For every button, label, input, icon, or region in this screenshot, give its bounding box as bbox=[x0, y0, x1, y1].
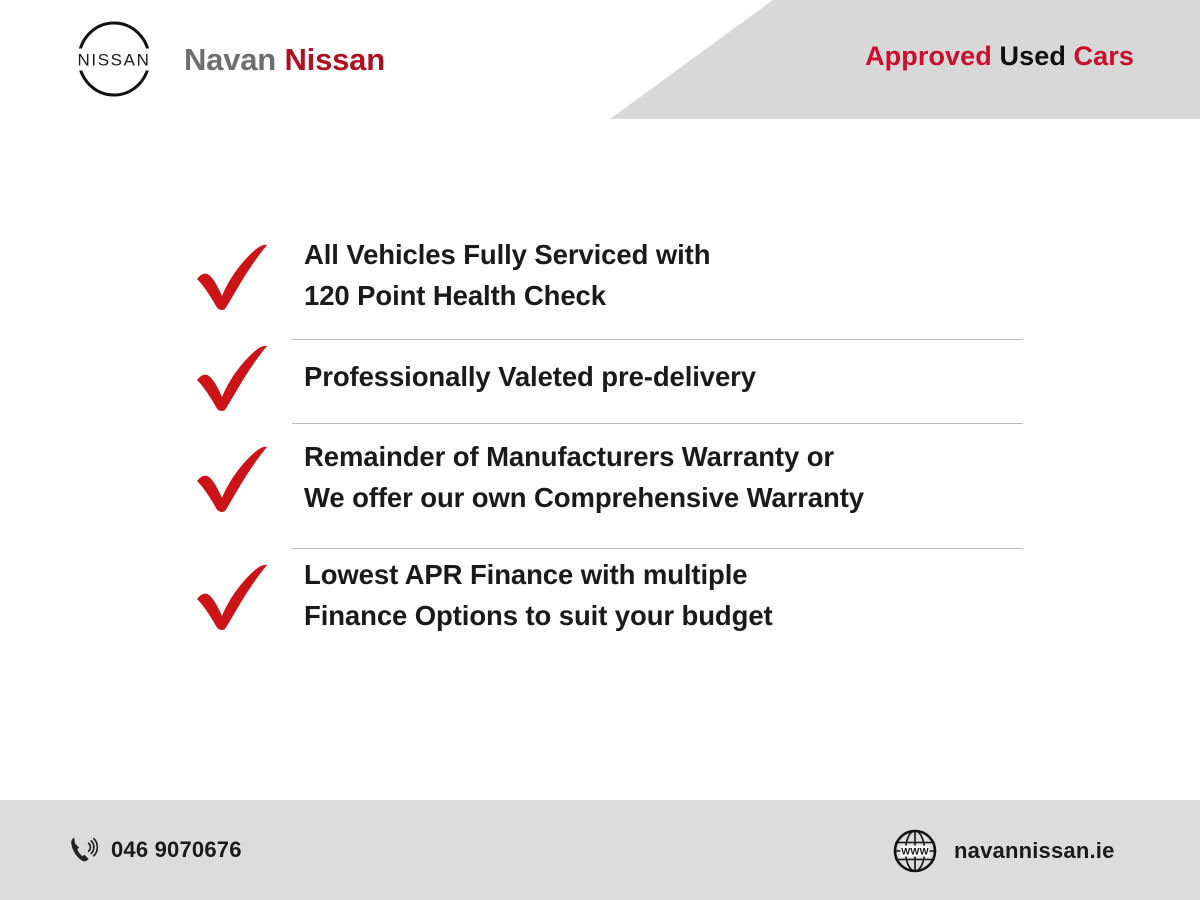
title-word-approved: Approved bbox=[865, 41, 992, 71]
feature-item: All Vehicles Fully Serviced with 120 Poi… bbox=[0, 216, 1200, 334]
approved-used-cars-title: Approved Used Cars bbox=[865, 43, 1134, 70]
globe-www-icon: WWW bbox=[892, 828, 938, 874]
feature-item: Professionally Valeted pre-delivery bbox=[0, 334, 1200, 418]
svg-text:WWW: WWW bbox=[901, 846, 929, 857]
page-header: NISSAN Navan Nissan Approved Used Cars bbox=[0, 0, 1200, 120]
feature-item-text: Remainder of Manufacturers Warranty or W… bbox=[304, 436, 864, 518]
nissan-emblem-icon: NISSAN bbox=[64, 20, 164, 98]
footer-website-url[interactable]: navannissan.ie bbox=[954, 840, 1115, 862]
footer-website-block[interactable]: WWW navannissan.ie bbox=[892, 828, 1115, 874]
feature-item: Remainder of Manufacturers Warranty or W… bbox=[0, 418, 1200, 536]
feature-item-text: Lowest APR Finance with multiple Finance… bbox=[304, 554, 773, 636]
footer-phone-block[interactable]: 046 9070676 bbox=[68, 835, 242, 865]
red-checkmark-icon bbox=[192, 441, 278, 513]
red-checkmark-icon bbox=[192, 239, 278, 311]
red-checkmark-icon bbox=[192, 559, 278, 631]
feature-item-text: All Vehicles Fully Serviced with 120 Poi… bbox=[304, 234, 710, 316]
dealer-wordmark-navan: Navan bbox=[184, 42, 276, 77]
dealer-wordmark-nissan: Nissan bbox=[284, 42, 384, 77]
feature-item-text: Professionally Valeted pre-delivery bbox=[304, 356, 756, 397]
title-word-used: Used bbox=[1000, 41, 1066, 71]
dealer-wordmark: Navan Nissan bbox=[184, 44, 385, 75]
page-footer: 046 9070676 WWW navannissan.ie bbox=[0, 800, 1200, 900]
dealer-brand-block[interactable]: NISSAN Navan Nissan bbox=[64, 20, 385, 98]
title-word-cars: Cars bbox=[1074, 41, 1134, 71]
feature-list: All Vehicles Fully Serviced with 120 Poi… bbox=[0, 216, 1200, 654]
footer-phone-number[interactable]: 046 9070676 bbox=[111, 839, 242, 861]
red-checkmark-icon bbox=[192, 340, 278, 412]
feature-item: Lowest APR Finance with multiple Finance… bbox=[0, 536, 1200, 654]
phone-ringing-icon bbox=[68, 835, 98, 865]
svg-text:NISSAN: NISSAN bbox=[78, 51, 151, 70]
